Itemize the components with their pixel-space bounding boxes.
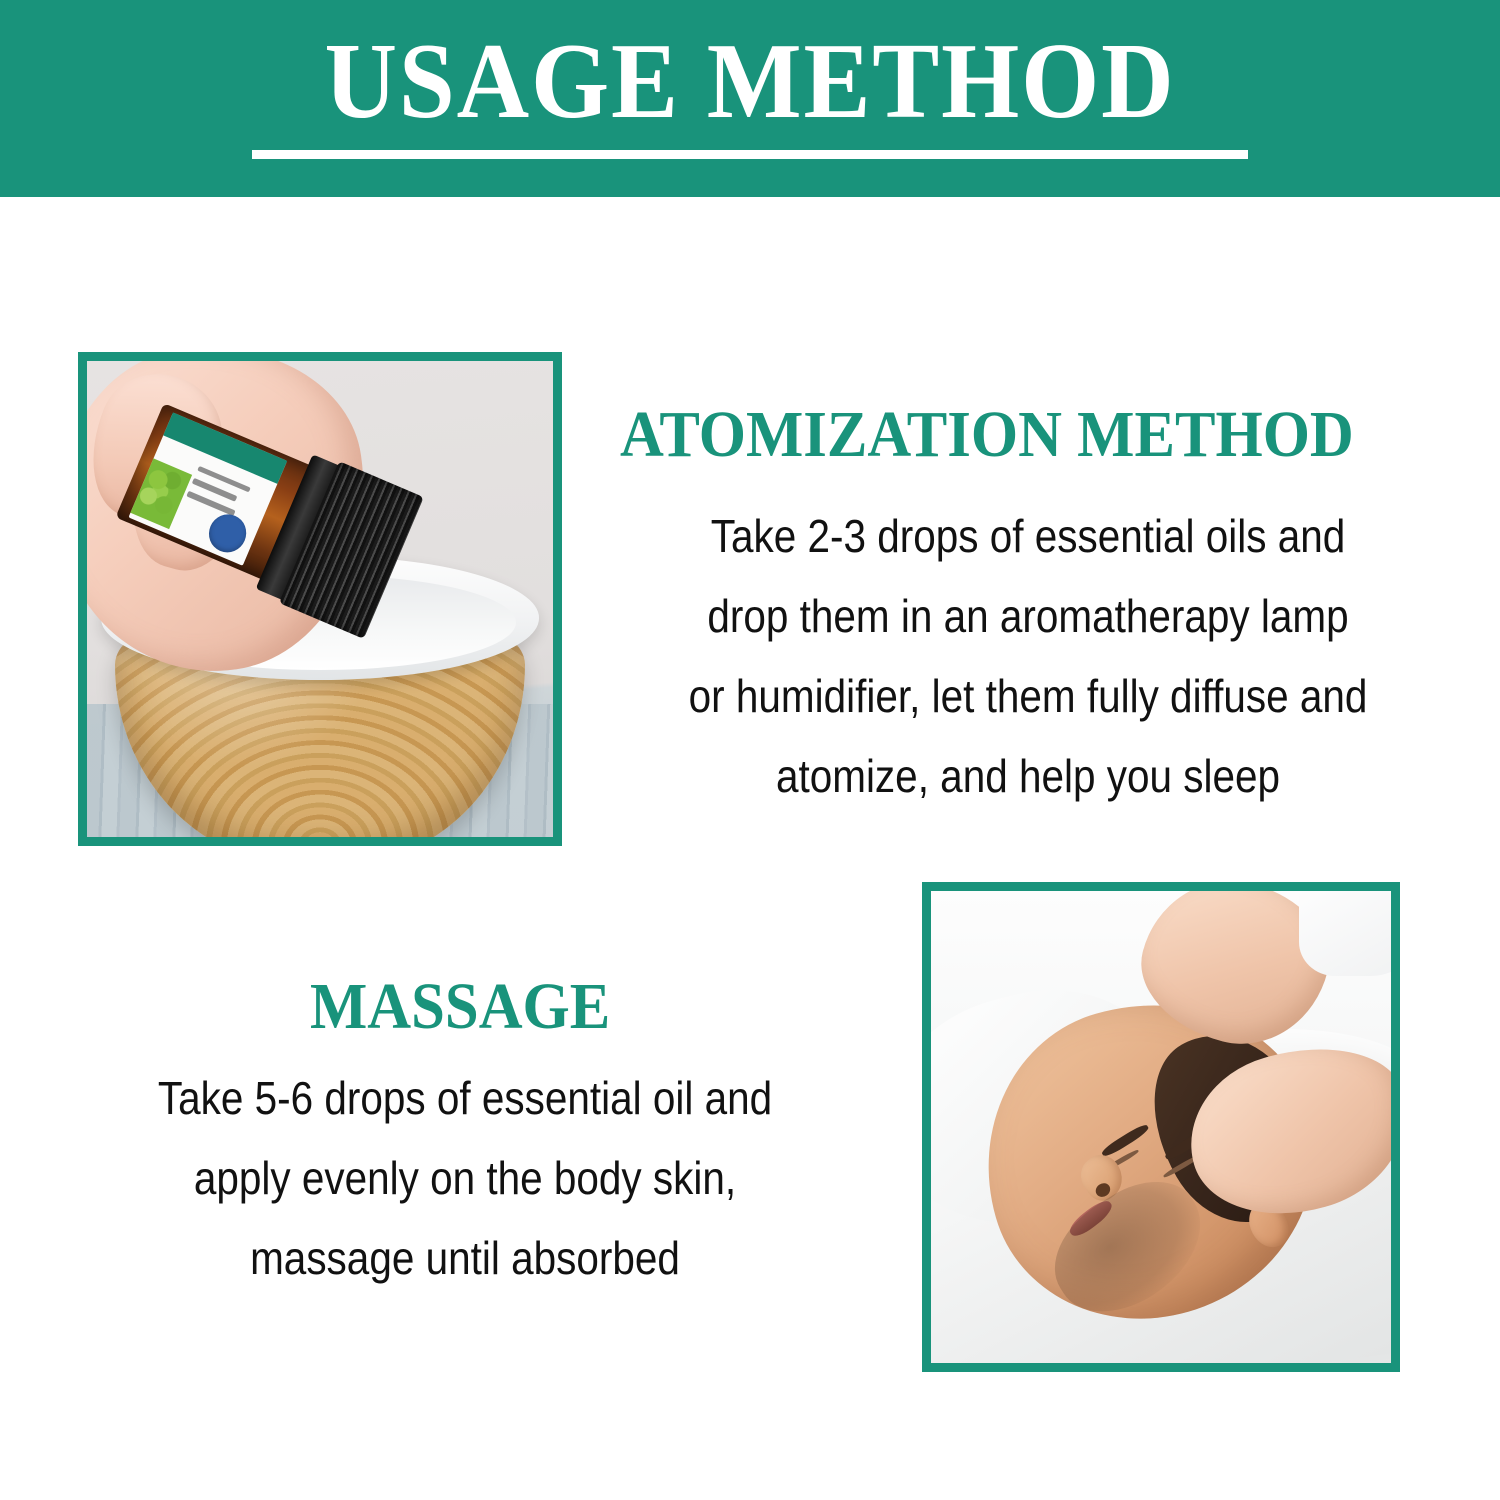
body-line: Take 5-6 drops of essential oil and <box>91 1058 839 1138</box>
massage-scene-background <box>931 891 1391 1363</box>
body-line: massage until absorbed <box>91 1218 839 1298</box>
diffuser-scene-background <box>87 361 553 837</box>
eyebrow <box>1100 1122 1150 1159</box>
atomization-image-frame <box>78 352 562 846</box>
page-title: USAGE METHOD <box>53 22 1448 142</box>
label-blue-badge <box>203 509 252 559</box>
atomization-heading: ATOMIZATION METHOD <box>620 400 1354 470</box>
label-leaf-graphic <box>131 459 193 530</box>
body-line: or humidifier, let them fully diffuse an… <box>650 656 1407 736</box>
atomization-image <box>87 361 553 837</box>
massage-image <box>931 891 1391 1363</box>
page-header-banner: USAGE METHOD <box>0 0 1500 197</box>
massage-heading: MASSAGE <box>310 972 610 1042</box>
body-line: atomize, and help you sleep <box>650 736 1407 816</box>
body-line: Take 2-3 drops of essential oils and <box>650 496 1407 576</box>
therapist-sleeve <box>1299 891 1391 976</box>
body-line: apply evenly on the body skin, <box>91 1138 839 1218</box>
title-underline-rule <box>252 150 1248 159</box>
massage-body-text: Take 5-6 drops of essential oil and appl… <box>91 1058 839 1298</box>
body-line: drop them in an aromatherapy lamp <box>650 576 1407 656</box>
massage-image-frame <box>922 882 1400 1372</box>
atomization-body-text: Take 2-3 drops of essential oils and dro… <box>650 496 1407 816</box>
